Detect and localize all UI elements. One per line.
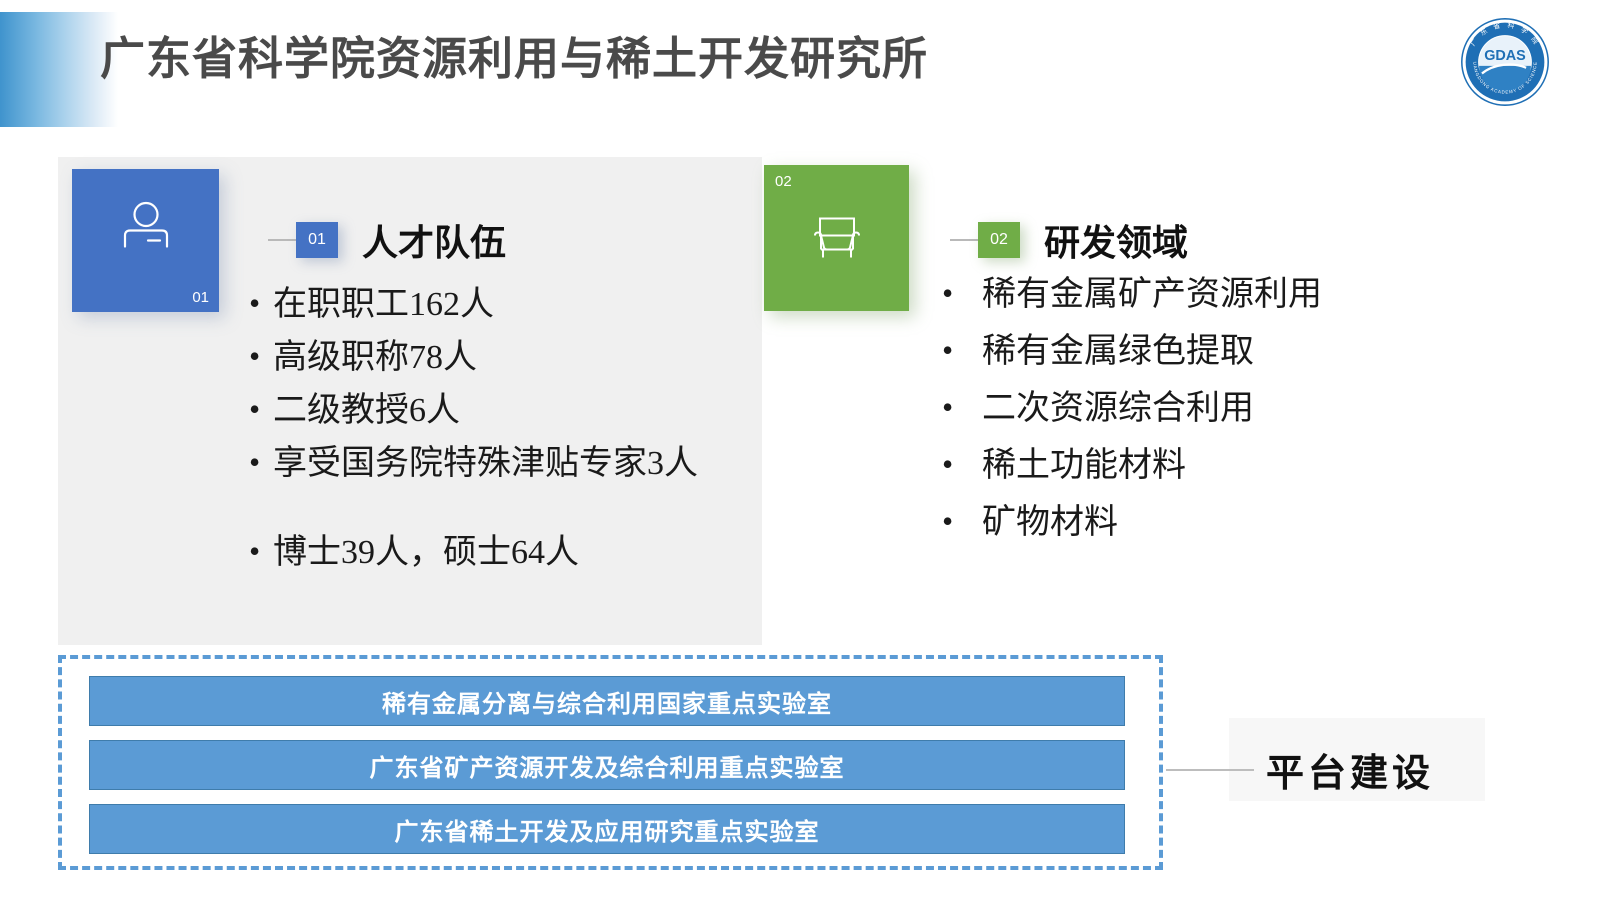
talent-number-badge: 01 [296,222,338,258]
heading-rule [268,239,296,241]
list-item: 二级教授6人 [273,384,725,437]
gdas-logo: GDAS 广 东 省 科 学 院 GUANGDONG ACADEMY OF SC… [1457,14,1553,110]
rnd-bullet-list: 稀有金属矿产资源利用 稀有金属绿色提取 二次资源综合利用 稀土功能材料 矿物材料 [930,266,1570,551]
svg-text:GDAS: GDAS [1484,48,1526,64]
lab-bar[interactable]: 广东省矿产资源开发及综合利用重点实验室 [89,740,1125,790]
lab-bar[interactable]: 广东省稀土开发及应用研究重点实验室 [89,804,1125,854]
platform-lab-list: 稀有金属分离与综合利用国家重点实验室 广东省矿产资源开发及综合利用重点实验室 广… [89,676,1125,868]
list-item: 博士39人，硕士64人 [273,526,725,579]
list-item: 稀有金属绿色提取 [982,323,1570,380]
rnd-heading-title: 研发领域 [1044,214,1188,266]
list-item: 矿物材料 [982,494,1570,551]
talent-icon-card: 01 [72,169,219,312]
list-item: 稀土功能材料 [982,437,1570,494]
rnd-number-badge: 02 [978,222,1020,258]
platform-label: 平台建设 [1266,742,1434,797]
rnd-card-number: 02 [775,173,792,190]
platform-label-group: 平台建设 [1166,742,1434,797]
rnd-section-heading: 02 研发领域 [950,214,1188,266]
talent-bullet-list: 在职职工162人 高级职称78人 二级教授6人 享受国务院特殊津贴专家3人 博士… [245,278,725,579]
list-item: 稀有金属矿产资源利用 [982,266,1570,323]
rnd-icon-card: 02 [764,165,909,311]
list-item: 享受国务院特殊津贴专家3人 [273,437,725,490]
talent-card-number: 01 [192,289,209,306]
list-item: 在职职工162人 [273,278,725,331]
list-item: 二次资源综合利用 [982,380,1570,437]
page-title: 广东省科学院资源利用与稀土开发研究所 [100,22,928,87]
talent-heading-title: 人才队伍 [362,214,506,266]
lab-bar[interactable]: 稀有金属分离与综合利用国家重点实验室 [89,676,1125,726]
platform-leader-line [1166,769,1254,771]
person-icon [117,198,175,261]
list-item: 高级职称78人 [273,331,725,384]
talent-section-heading: 01 人才队伍 [268,214,506,266]
armchair-icon [809,214,865,271]
heading-rule [950,239,978,241]
